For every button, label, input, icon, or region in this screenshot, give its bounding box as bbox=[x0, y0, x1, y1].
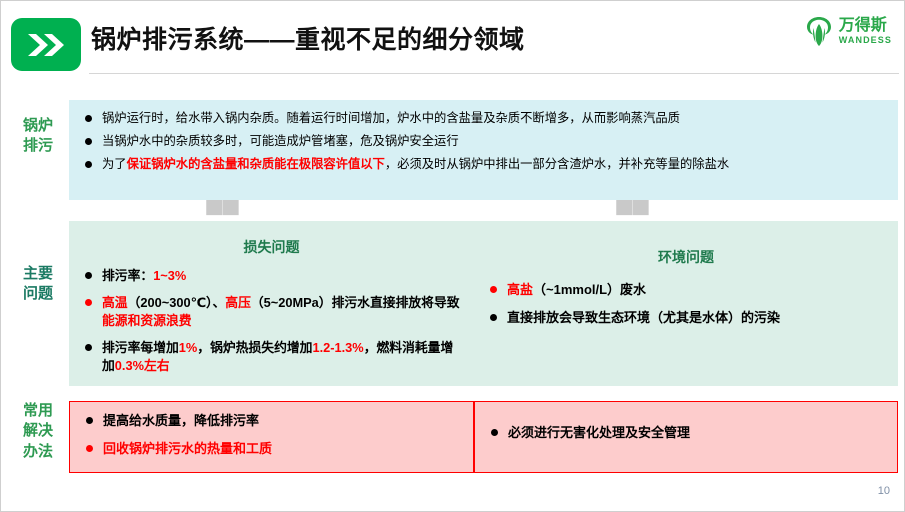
bullet-dot-icon bbox=[490, 314, 497, 321]
bullet-dot-icon bbox=[85, 138, 92, 145]
section-label-main-problems: 主要 问题 bbox=[13, 264, 63, 305]
bullet-item: 回收锅炉排污水的热量和工质 bbox=[84, 440, 459, 459]
env-panel-heading: 环境问题 bbox=[488, 247, 884, 267]
bullet-text-highlight: 高温 bbox=[102, 295, 128, 310]
bullet-dot-icon bbox=[85, 272, 92, 279]
bullet-text: （5~20MPa）排污水直接排放将导致 bbox=[251, 295, 460, 310]
bullet-text: ，必须及时从锅炉中排出一部分含渣炉水，并补充等量的除盐水 bbox=[385, 157, 729, 171]
wandess-leaf-icon bbox=[804, 15, 834, 47]
bullet-item: 为了保证锅炉水的含盐量和杂质能在极限容许值以下，必须及时从锅炉中排出一部分含渣炉… bbox=[83, 156, 884, 174]
bullet-text: 直接排放会导致生态环境（尤其是水体）的污染 bbox=[507, 310, 780, 325]
bullet-text: 排污率每增加 bbox=[102, 340, 179, 355]
bullet-item: 高盐（~1mmol/L）废水 bbox=[488, 281, 884, 300]
bullet-text-highlight: 保证锅炉水的含盐量和杂质能在极限容许值以下 bbox=[127, 157, 385, 171]
bullet-text: 提高给水质量，降低排污率 bbox=[103, 413, 259, 428]
brand-logo: 万得斯 WANDESS bbox=[804, 11, 892, 51]
bullet-text: 当锅炉水中的杂质较多时，可能造成炉管堵塞，危及锅炉安全运行 bbox=[102, 134, 459, 148]
overview-bullet-list: 锅炉运行时，给水带入锅内杂质。随着运行时间增加，炉水中的含盐量及杂质不断增多，从… bbox=[83, 110, 884, 173]
bullet-text-highlight: 能源和资源浪费 bbox=[102, 313, 192, 328]
bullet-dot-red-icon bbox=[490, 286, 497, 293]
title-divider bbox=[89, 73, 899, 74]
bullet-text-highlight: 1.2-1.3% bbox=[312, 340, 363, 355]
env-bullet-list: 高盐（~1mmol/L）废水直接排放会导致生态环境（尤其是水体）的污染 bbox=[488, 281, 884, 328]
solution-left-bullet-list: 提高给水质量，降低排污率回收锅炉排污水的热量和工质 bbox=[84, 412, 459, 459]
overview-panel: 锅炉运行时，给水带入锅内杂质。随着运行时间增加，炉水中的含盐量及杂质不断增多，从… bbox=[69, 100, 898, 200]
bullet-dot-icon bbox=[86, 417, 93, 424]
section-label-boiler-blowdown: 锅炉 排污 bbox=[13, 116, 63, 157]
solution-panel-right: 必须进行无害化处理及安全管理 bbox=[474, 401, 898, 473]
bullet-text-highlight: 高压 bbox=[225, 295, 251, 310]
brand-name-cn: 万得斯 bbox=[839, 18, 892, 34]
bullet-text: 必须进行无害化处理及安全管理 bbox=[508, 425, 690, 440]
brand-logo-text: 万得斯 WANDESS bbox=[839, 18, 892, 45]
section-label-line: 排污 bbox=[13, 136, 63, 156]
bullet-text: （200~300℃）、 bbox=[128, 295, 226, 310]
bullet-text-highlight: 回收锅炉排污水的热量和工质 bbox=[103, 441, 272, 456]
bullet-item: 当锅炉水中的杂质较多时，可能造成炉管堵塞，危及锅炉安全运行 bbox=[83, 133, 884, 151]
bullet-dot-icon bbox=[85, 161, 92, 168]
section-label-line: 常用 bbox=[13, 401, 63, 421]
bullet-dot-icon bbox=[85, 344, 92, 351]
solution-right-bullet-list: 必须进行无害化处理及安全管理 bbox=[489, 424, 883, 443]
bullet-text: 为了 bbox=[102, 157, 127, 171]
loss-panel-heading: 损失问题 bbox=[83, 237, 460, 257]
bullet-text: ，锅炉热损失约增加 bbox=[197, 340, 312, 355]
bullet-dot-red-icon bbox=[86, 445, 93, 452]
solution-panel-left: 提高给水质量，降低排污率回收锅炉排污水的热量和工质 bbox=[69, 401, 474, 473]
bullet-item: 排污率每增加1%，锅炉热损失约增加1.2-1.3%，燃料消耗量增加0.3%左右 bbox=[83, 339, 460, 376]
bullet-item: 锅炉运行时，给水带入锅内杂质。随着运行时间增加，炉水中的含盐量及杂质不断增多，从… bbox=[83, 110, 884, 128]
bullet-text: 排污率： bbox=[102, 268, 153, 283]
bullet-item: 排污率：1~3% bbox=[83, 267, 460, 286]
bullet-text-highlight: 1~3% bbox=[153, 268, 186, 283]
slide-header: 锅炉排污系统——重视不足的细分领域 万得斯 WANDESS bbox=[1, 1, 905, 89]
slide-canvas: 锅炉排污系统——重视不足的细分领域 万得斯 WANDESS 锅炉 排污 主要 问… bbox=[0, 0, 905, 512]
section-label-common-solutions: 常用 解决 办法 bbox=[13, 401, 63, 462]
loss-problem-panel: 损失问题 排污率：1~3%高温（200~300℃）、高压（5~20MPa）排污水… bbox=[69, 221, 474, 386]
bullet-item: 直接排放会导致生态环境（尤其是水体）的污染 bbox=[488, 309, 884, 328]
bullet-dot-red-icon bbox=[85, 299, 92, 306]
bullet-dot-icon bbox=[491, 429, 498, 436]
bullet-dot-icon bbox=[85, 115, 92, 122]
page-number: 10 bbox=[878, 485, 890, 497]
section-label-line: 锅炉 bbox=[13, 116, 63, 136]
bullet-text-highlight: 0.3%左右 bbox=[115, 358, 170, 373]
bullet-text: （~1mmol/L）废水 bbox=[533, 282, 646, 297]
page-title: 锅炉排污系统——重视不足的细分领域 bbox=[91, 25, 711, 56]
loss-bullet-list: 排污率：1~3%高温（200~300℃）、高压（5~20MPa）排污水直接排放将… bbox=[83, 267, 460, 376]
bullet-item: 高温（200~300℃）、高压（5~20MPa）排污水直接排放将导致能源和资源浪… bbox=[83, 294, 460, 331]
section-label-line: 办法 bbox=[13, 442, 63, 462]
bullet-text: 锅炉运行时，给水带入锅内杂质。随着运行时间增加，炉水中的含盐量及杂质不断增多，从… bbox=[102, 111, 680, 125]
section-label-line: 主要 bbox=[13, 264, 63, 284]
double-chevron-right-icon bbox=[11, 18, 81, 71]
environment-problem-panel: 环境问题 高盐（~1mmol/L）废水直接排放会导致生态环境（尤其是水体）的污染 bbox=[474, 221, 898, 386]
bullet-item: 提高给水质量，降低排污率 bbox=[84, 412, 459, 431]
brand-name-en: WANDESS bbox=[839, 36, 892, 45]
bullet-item: 必须进行无害化处理及安全管理 bbox=[489, 424, 883, 443]
section-label-line: 解决 bbox=[13, 421, 63, 441]
section-label-line: 问题 bbox=[13, 284, 63, 304]
bullet-text-highlight: 高盐 bbox=[507, 282, 533, 297]
bullet-text-highlight: 1% bbox=[179, 340, 198, 355]
